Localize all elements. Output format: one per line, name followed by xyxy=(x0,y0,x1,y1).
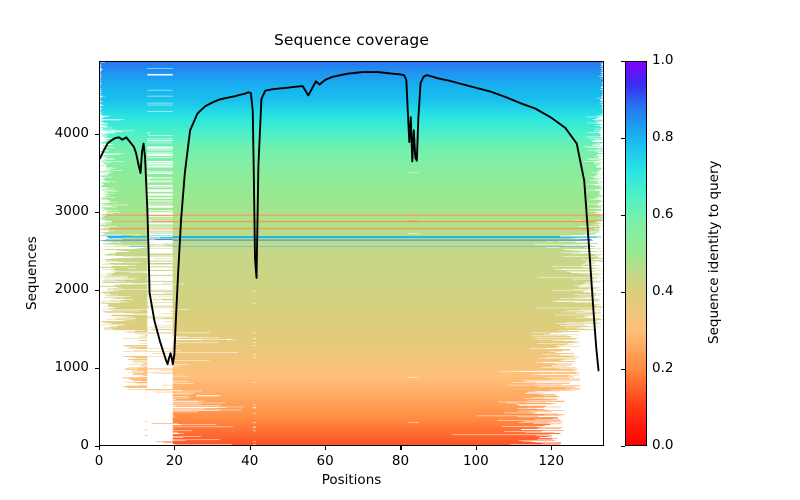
colorbar-tick-mark xyxy=(621,369,625,370)
y-axis-label: Sequences xyxy=(24,236,40,310)
y-tick-label: 3000 xyxy=(29,203,89,219)
x-tick-label: 100 xyxy=(446,453,506,469)
coverage-curve xyxy=(100,72,598,370)
page-title: Sequence coverage xyxy=(99,31,604,49)
y-tick-label: 1000 xyxy=(29,359,89,375)
x-tick-label: 120 xyxy=(521,453,581,469)
colorbar-tick-mark xyxy=(621,138,625,139)
x-tick-mark xyxy=(400,446,401,450)
y-tick-label: 0 xyxy=(29,437,89,453)
x-tick-mark xyxy=(99,446,100,450)
colorbar-tick-mark xyxy=(621,61,625,62)
y-tick-label: 4000 xyxy=(29,125,89,141)
y-tick-mark xyxy=(95,446,99,447)
colorbar-tick-label: 0.2 xyxy=(652,360,700,376)
colorbar-tick-label: 1.0 xyxy=(652,52,700,68)
colorbar-tick-mark xyxy=(621,446,625,447)
x-tick-label: 0 xyxy=(69,453,129,469)
y-tick-mark xyxy=(95,368,99,369)
colorbar-tick-label: 0.8 xyxy=(652,129,700,145)
y-tick-mark xyxy=(95,290,99,291)
coverage-line-overlay xyxy=(100,62,603,445)
colorbar-label: Sequence identity to query xyxy=(706,161,722,345)
x-tick-label: 80 xyxy=(370,453,430,469)
colorbar-gradient xyxy=(626,62,646,445)
colorbar-tick-label: 0.6 xyxy=(652,206,700,222)
colorbar-tick-label: 0.4 xyxy=(652,283,700,299)
x-tick-mark xyxy=(325,446,326,450)
colorbar-tick-mark xyxy=(621,292,625,293)
y-tick-mark xyxy=(95,134,99,135)
heatmap-axes[interactable] xyxy=(99,61,604,446)
x-tick-mark xyxy=(476,446,477,450)
x-tick-label: 60 xyxy=(295,453,355,469)
x-tick-mark xyxy=(174,446,175,450)
x-tick-label: 40 xyxy=(220,453,280,469)
colorbar[interactable] xyxy=(625,61,647,446)
figure-canvas: Sequence coverage 020406080100120 010002… xyxy=(0,0,800,500)
colorbar-tick-mark xyxy=(621,215,625,216)
x-tick-mark xyxy=(250,446,251,450)
colorbar-tick-label: 0.0 xyxy=(652,437,700,453)
x-axis-label: Positions xyxy=(99,472,604,488)
x-tick-mark xyxy=(551,446,552,450)
x-tick-label: 20 xyxy=(144,453,204,469)
y-tick-mark xyxy=(95,212,99,213)
